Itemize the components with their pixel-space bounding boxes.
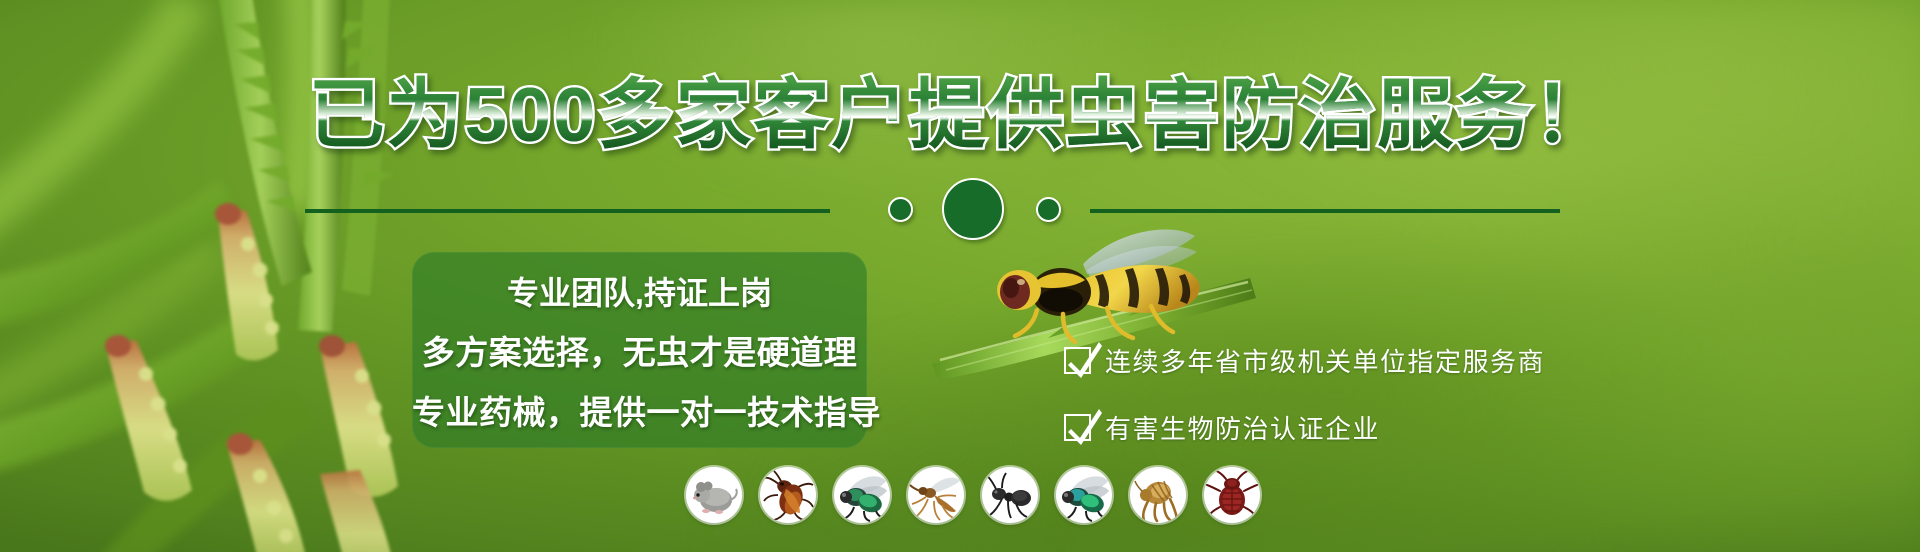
- checkbox-checked-icon: [1064, 414, 1091, 441]
- list-item: 有害生物防治认证企业: [1064, 409, 1545, 446]
- pest-type-icon-row: [686, 467, 1260, 523]
- feature-highlight-card: 专业团队,持证上岗 多方案选择，无虫才是硬道理 专业药械，提供一对一技术指导: [412, 252, 867, 448]
- bedbug-icon[interactable]: [1204, 467, 1260, 523]
- mouse-icon[interactable]: [686, 467, 742, 523]
- divider-dot-small-left: [888, 197, 913, 222]
- cockroach-icon[interactable]: [760, 467, 816, 523]
- credentials-checklist: 连续多年省市级机关单位指定服务商 有害生物防治认证企业: [1064, 342, 1545, 476]
- list-item: 连续多年省市级机关单位指定服务商: [1064, 342, 1545, 379]
- feature-line-2: 多方案选择，无虫才是硬道理: [412, 326, 867, 374]
- housefly-icon[interactable]: [834, 467, 890, 523]
- page-title: 已为500多家客户提供虫害防治服务！: [0, 74, 1920, 158]
- mosquito-icon[interactable]: [908, 467, 964, 523]
- promo-banner: 已为500多家客户提供虫害防治服务！ 已为500多家客户提供虫害防治服务！ 专业…: [0, 0, 1920, 552]
- divider-right: [1090, 209, 1560, 213]
- ant-icon[interactable]: [982, 467, 1038, 523]
- feature-line-1: 专业团队,持证上岗: [412, 268, 867, 314]
- credential-label: 有害生物防治认证企业: [1105, 409, 1380, 446]
- divider-dot-large: [942, 178, 1004, 240]
- checkbox-checked-icon: [1064, 347, 1091, 374]
- divider-dot-small-right: [1036, 197, 1061, 222]
- credential-label: 连续多年省市级机关单位指定服务商: [1105, 342, 1545, 379]
- feature-line-3: 专业药械，提供一对一技术指导: [412, 386, 867, 434]
- flea-icon[interactable]: [1130, 467, 1186, 523]
- divider-left: [305, 209, 830, 213]
- greenfly-icon[interactable]: [1056, 467, 1112, 523]
